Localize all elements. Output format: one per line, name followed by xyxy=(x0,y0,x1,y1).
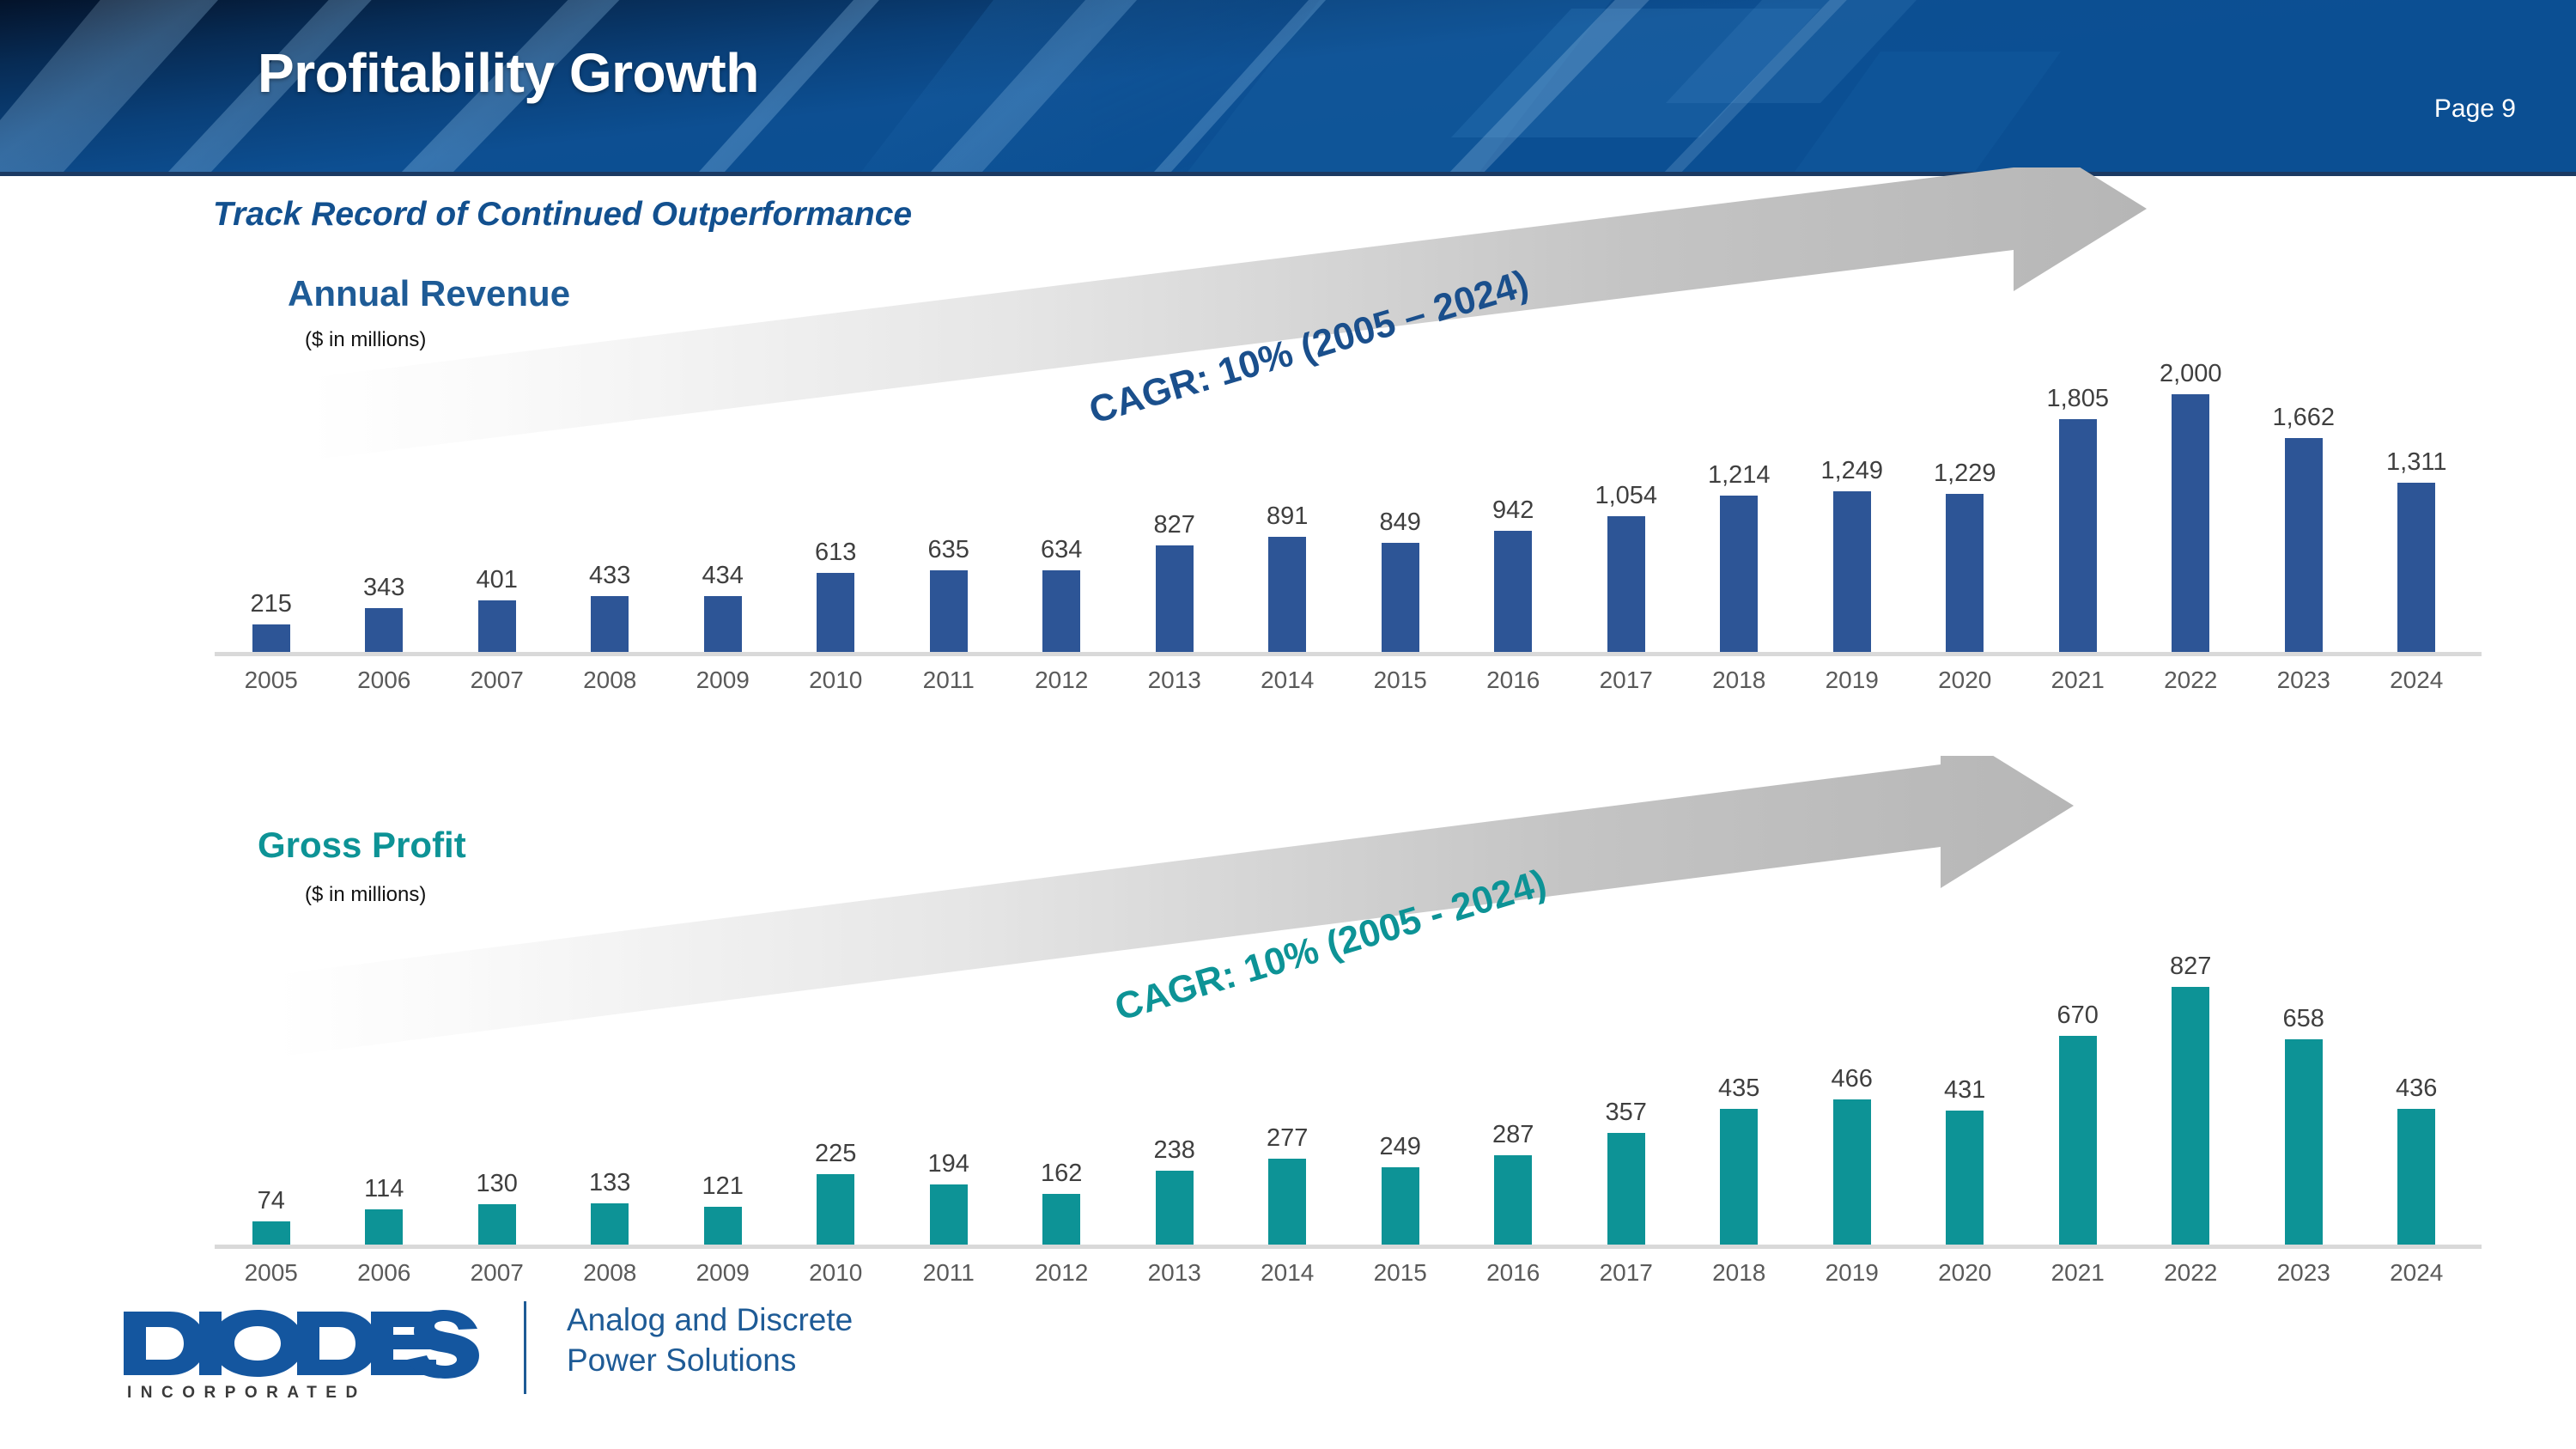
x-axis-tick-label: 2012 xyxy=(1005,667,1119,694)
bar-value-label: 401 xyxy=(477,566,518,594)
revenue-chart-title: Annual Revenue xyxy=(288,273,570,314)
bar-column: 343 xyxy=(328,335,441,652)
bar-column: 634 xyxy=(1005,335,1119,652)
bar xyxy=(1607,1133,1645,1245)
bar xyxy=(478,1204,516,1245)
revenue-plot-area: 2153434014334346136356348278918499421,05… xyxy=(215,335,2473,704)
x-axis-tick-label: 2008 xyxy=(554,1259,667,1287)
diodes-incorporated-label: INCORPORATED xyxy=(127,1384,481,1403)
revenue-x-axis: 2005200620072008200920102011201220132014… xyxy=(215,660,2473,704)
x-axis-tick-label: 2021 xyxy=(2021,667,2135,694)
bar-value-label: 634 xyxy=(1041,536,1082,564)
tagline-line-1: Analog and Discrete xyxy=(567,1300,853,1340)
bar-column: 114 xyxy=(328,919,441,1245)
bar-column: 613 xyxy=(780,335,893,652)
bar-column: 1,662 xyxy=(2247,335,2360,652)
x-axis-tick-label: 2013 xyxy=(1118,667,1231,694)
bar xyxy=(817,1174,854,1245)
bar xyxy=(2285,1039,2323,1245)
slide-header: Profitability Growth Page 9 xyxy=(0,0,2576,176)
bar xyxy=(2172,394,2209,652)
x-axis-tick-label: 2016 xyxy=(1457,1259,1571,1287)
x-axis-tick-label: 2009 xyxy=(666,1259,780,1287)
bar xyxy=(2172,987,2209,1245)
bar-column: 401 xyxy=(440,335,554,652)
x-axis-tick-label: 2019 xyxy=(1795,667,1909,694)
bar xyxy=(930,1184,968,1245)
slide-subtitle: Track Record of Continued Outperformance xyxy=(213,196,912,234)
bar-value-label: 658 xyxy=(2283,1005,2324,1033)
bar xyxy=(1720,496,1758,652)
bar-column: 133 xyxy=(554,919,667,1245)
x-axis-tick-label: 2024 xyxy=(2360,667,2474,694)
bar xyxy=(1042,570,1080,652)
bar-column: 466 xyxy=(1795,919,1909,1245)
bar-column: 942 xyxy=(1457,335,1571,652)
x-axis-tick-label: 2014 xyxy=(1231,1259,1345,1287)
x-axis-tick-label: 2010 xyxy=(780,1259,893,1287)
bar xyxy=(591,596,629,652)
x-axis-tick-label: 2013 xyxy=(1118,1259,1231,1287)
bar-value-label: 121 xyxy=(702,1172,744,1201)
bar-value-label: 114 xyxy=(364,1175,404,1203)
bar xyxy=(2059,419,2097,652)
bar-value-label: 613 xyxy=(815,539,856,567)
bar-value-label: 357 xyxy=(1606,1099,1647,1127)
bar-value-label: 287 xyxy=(1492,1121,1534,1149)
bar-column: 1,214 xyxy=(1683,335,1796,652)
x-axis-tick-label: 2023 xyxy=(2247,667,2360,694)
x-axis-tick-label: 2020 xyxy=(1909,667,2022,694)
profit-chart-title: Gross Profit xyxy=(258,825,466,866)
x-axis-tick-label: 2009 xyxy=(666,667,780,694)
profit-axis-line xyxy=(215,1245,2482,1249)
x-axis-tick-label: 2006 xyxy=(328,1259,441,1287)
bar xyxy=(930,570,968,652)
page-number-label: Page 9 xyxy=(2434,94,2516,124)
bar-column: 215 xyxy=(215,335,328,652)
bar-value-label: 670 xyxy=(2057,1002,2099,1030)
bar-column: 1,229 xyxy=(1909,335,2022,652)
x-axis-tick-label: 2022 xyxy=(2135,667,2248,694)
bar-value-label: 162 xyxy=(1041,1160,1082,1188)
x-axis-tick-label: 2017 xyxy=(1570,1259,1683,1287)
bar xyxy=(2397,483,2435,652)
bar xyxy=(365,1209,403,1245)
revenue-axis-line xyxy=(215,652,2482,656)
footer-divider xyxy=(524,1301,526,1394)
bar xyxy=(2059,1036,2097,1245)
bar-value-label: 1,662 xyxy=(2272,404,2335,432)
bar-value-label: 1,311 xyxy=(2386,448,2446,477)
x-axis-tick-label: 2014 xyxy=(1231,667,1345,694)
bar xyxy=(1382,543,1419,652)
bar xyxy=(1833,491,1871,652)
slide-footer: INCORPORATED Analog and Discrete Power S… xyxy=(0,1286,2576,1449)
x-axis-tick-label: 2018 xyxy=(1683,1259,1796,1287)
bar-column: 2,000 xyxy=(2135,335,2248,652)
bar-column: 435 xyxy=(1683,919,1796,1245)
profit-bar-group: 7411413013312122519416223827724928735743… xyxy=(215,919,2473,1245)
bar xyxy=(704,1207,742,1245)
bar xyxy=(591,1203,629,1245)
x-axis-tick-label: 2005 xyxy=(215,667,328,694)
bar-column: 194 xyxy=(892,919,1005,1245)
x-axis-tick-label: 2007 xyxy=(440,667,554,694)
bar xyxy=(1607,516,1645,652)
bar-column: 277 xyxy=(1231,919,1345,1245)
x-axis-tick-label: 2020 xyxy=(1909,1259,2022,1287)
bar-column: 1,249 xyxy=(1795,335,1909,652)
tagline-line-2: Power Solutions xyxy=(567,1340,853,1380)
bar-column: 891 xyxy=(1231,335,1345,652)
header-bottom-rule xyxy=(0,172,2576,176)
bar xyxy=(817,573,854,652)
bar-column: 434 xyxy=(666,335,780,652)
x-axis-tick-label: 2015 xyxy=(1344,667,1457,694)
profit-units-label: ($ in millions) xyxy=(305,883,426,907)
bar xyxy=(1720,1109,1758,1245)
bar-value-label: 434 xyxy=(702,562,744,590)
x-axis-tick-label: 2024 xyxy=(2360,1259,2474,1287)
bar-value-label: 215 xyxy=(251,590,292,618)
bar-column: 431 xyxy=(1909,919,2022,1245)
bar-value-label: 194 xyxy=(928,1150,969,1178)
bar-value-label: 133 xyxy=(589,1169,630,1197)
x-axis-tick-label: 2006 xyxy=(328,667,441,694)
x-axis-tick-label: 2007 xyxy=(440,1259,554,1287)
x-axis-tick-label: 2022 xyxy=(2135,1259,2248,1287)
bar-value-label: 225 xyxy=(815,1140,856,1168)
bar-value-label: 249 xyxy=(1380,1133,1421,1161)
bar-column: 121 xyxy=(666,919,780,1245)
bar-column: 670 xyxy=(2021,919,2135,1245)
bar-column: 287 xyxy=(1457,919,1571,1245)
bar-column: 436 xyxy=(2360,919,2474,1245)
x-axis-tick-label: 2008 xyxy=(554,667,667,694)
bar-value-label: 635 xyxy=(928,536,969,564)
bar-column: 1,054 xyxy=(1570,335,1683,652)
bar-value-label: 343 xyxy=(363,574,404,602)
bar-value-label: 1,229 xyxy=(1934,460,1996,488)
bar-column: 162 xyxy=(1005,919,1119,1245)
bar xyxy=(1156,1171,1194,1245)
bar xyxy=(1494,531,1532,652)
bar-column: 1,311 xyxy=(2360,335,2474,652)
bar-value-label: 431 xyxy=(1944,1076,1985,1105)
x-axis-tick-label: 2011 xyxy=(892,1259,1005,1287)
bar-column: 658 xyxy=(2247,919,2360,1245)
diodes-logo: INCORPORATED xyxy=(120,1306,481,1403)
x-axis-tick-label: 2019 xyxy=(1795,1259,1909,1287)
bar-value-label: 433 xyxy=(589,562,630,590)
bar xyxy=(1156,545,1194,652)
bar xyxy=(365,608,403,652)
profit-plot-area: 7411413013312122519416223827724928735743… xyxy=(215,919,2473,1297)
bar xyxy=(1382,1167,1419,1245)
annual-revenue-chart: Annual Revenue ($ in millions) 215343401… xyxy=(0,258,2576,730)
bar-column: 635 xyxy=(892,335,1005,652)
bar-value-label: 74 xyxy=(258,1187,285,1215)
bar-column: 849 xyxy=(1344,335,1457,652)
bar-column: 827 xyxy=(2135,919,2248,1245)
bar xyxy=(252,624,290,652)
bar xyxy=(1494,1155,1532,1245)
bar-value-label: 2,000 xyxy=(2160,360,2222,388)
bar-column: 130 xyxy=(440,919,554,1245)
bar-value-label: 942 xyxy=(1492,496,1534,525)
bar-value-label: 435 xyxy=(1718,1075,1759,1103)
bar xyxy=(478,600,516,652)
bar-column: 74 xyxy=(215,919,328,1245)
gross-profit-chart: Gross Profit ($ in millions) 74114130133… xyxy=(0,825,2576,1306)
x-axis-tick-label: 2018 xyxy=(1683,667,1796,694)
x-axis-tick-label: 2011 xyxy=(892,667,1005,694)
bar-value-label: 466 xyxy=(1832,1065,1873,1093)
bar-value-label: 130 xyxy=(477,1170,518,1198)
bar-column: 357 xyxy=(1570,919,1683,1245)
x-axis-tick-label: 2023 xyxy=(2247,1259,2360,1287)
x-axis-tick-label: 2005 xyxy=(215,1259,328,1287)
bar-value-label: 827 xyxy=(2170,953,2211,981)
bar xyxy=(1946,494,1984,652)
bar-column: 433 xyxy=(554,335,667,652)
company-tagline: Analog and Discrete Power Solutions xyxy=(567,1300,853,1381)
bar xyxy=(1042,1194,1080,1245)
bar xyxy=(2285,438,2323,652)
bar xyxy=(252,1221,290,1245)
bar-value-label: 238 xyxy=(1154,1136,1195,1165)
x-axis-tick-label: 2012 xyxy=(1005,1259,1119,1287)
bar-column: 238 xyxy=(1118,919,1231,1245)
bar xyxy=(1268,537,1306,652)
bar xyxy=(1268,1159,1306,1245)
bar-value-label: 891 xyxy=(1267,502,1308,531)
bar-value-label: 827 xyxy=(1154,511,1195,539)
bar-value-label: 849 xyxy=(1380,508,1421,537)
bar-column: 225 xyxy=(780,919,893,1245)
bar-column: 827 xyxy=(1118,335,1231,652)
bar xyxy=(704,596,742,652)
bar-value-label: 1,054 xyxy=(1595,482,1657,510)
bar-value-label: 1,805 xyxy=(2046,385,2109,413)
diodes-wordmark-icon xyxy=(120,1306,481,1380)
revenue-bar-group: 2153434014334346136356348278918499421,05… xyxy=(215,335,2473,652)
bar-value-label: 277 xyxy=(1267,1124,1308,1153)
bar-value-label: 1,249 xyxy=(1820,457,1883,485)
bar-value-label: 1,214 xyxy=(1708,461,1771,490)
bar xyxy=(1833,1099,1871,1245)
x-axis-tick-label: 2016 xyxy=(1457,667,1571,694)
x-axis-tick-label: 2010 xyxy=(780,667,893,694)
bar-column: 1,805 xyxy=(2021,335,2135,652)
x-axis-tick-label: 2015 xyxy=(1344,1259,1457,1287)
bar-column: 249 xyxy=(1344,919,1457,1245)
page-title: Profitability Growth xyxy=(258,41,759,105)
bar xyxy=(1946,1111,1984,1245)
bar xyxy=(2397,1109,2435,1245)
x-axis-tick-label: 2021 xyxy=(2021,1259,2135,1287)
x-axis-tick-label: 2017 xyxy=(1570,667,1683,694)
bar-value-label: 436 xyxy=(2396,1075,2437,1103)
